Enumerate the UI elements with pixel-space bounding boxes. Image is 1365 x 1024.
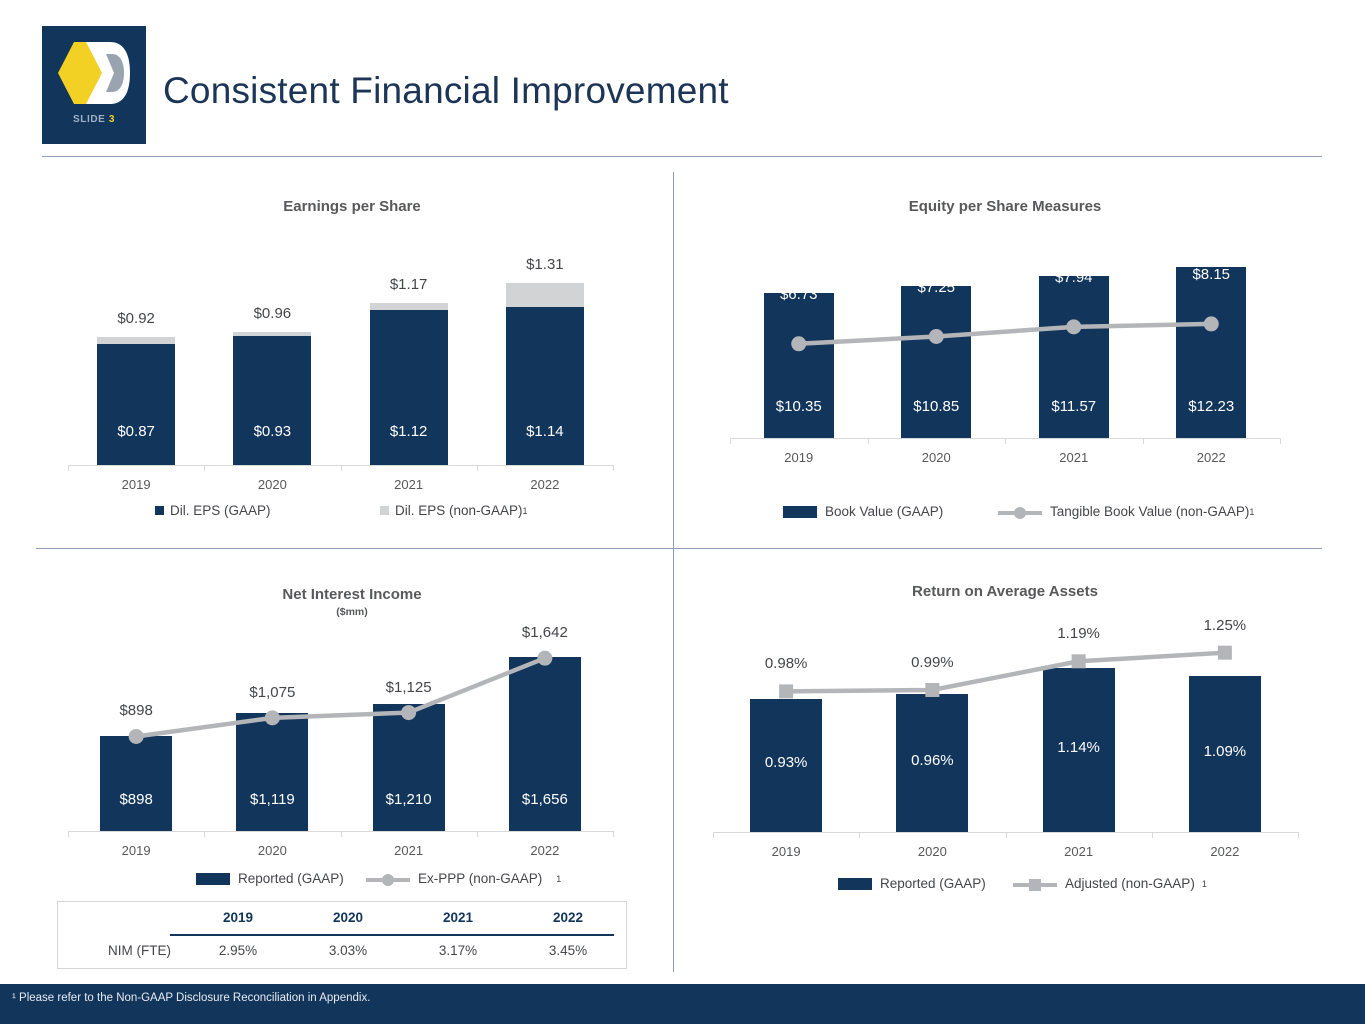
- category-label: 2021: [1029, 844, 1129, 859]
- line-value-label: 0.98%: [731, 655, 841, 672]
- table-cell: 3.03%: [293, 934, 403, 967]
- line-value-label: $1,075: [217, 684, 327, 701]
- line-value-label: $7.25: [881, 279, 991, 296]
- legend-item-book-value-gaap[interactable]: Book Value (GAAP): [783, 504, 998, 519]
- chart-title-equity: Equity per Share Measures: [690, 198, 1320, 215]
- bar-value-label: 0.96%: [890, 752, 974, 769]
- category-label: 2022: [495, 477, 595, 492]
- legend-item-ex-ppp-non-gaap[interactable]: Ex-PPP (non-GAAP) 1: [366, 871, 561, 886]
- line-value-label: $898: [81, 702, 191, 719]
- legend-label: Book Value (GAAP): [825, 504, 943, 519]
- chart-legend-roaa: Reported (GAAP) Adjusted (non-GAAP) 1: [838, 876, 1207, 891]
- axis-tick: [1280, 438, 1281, 444]
- line-square-gray-icon: [1013, 878, 1057, 890]
- legend-label: Dil. EPS (non-GAAP): [395, 503, 523, 518]
- legend-item-reported-gaap[interactable]: Reported (GAAP): [196, 871, 366, 886]
- line-circle-gray-icon: [366, 873, 410, 885]
- legend-label: Reported (GAAP): [238, 871, 344, 886]
- page-title: Consistent Financial Improvement: [163, 70, 729, 112]
- bar-value-label: $898: [94, 791, 178, 808]
- rect-navy-icon: [838, 878, 872, 890]
- legend-label: Dil. EPS (GAAP): [170, 503, 271, 518]
- category-label: 2019: [86, 477, 186, 492]
- category-label: 2021: [359, 477, 459, 492]
- chart-legend-equity: Book Value (GAAP) Tangible Book Value (n…: [783, 504, 1254, 519]
- category-label: 2021: [359, 843, 459, 858]
- line-marker: [537, 651, 552, 666]
- bar-value-label: $10.85: [895, 398, 977, 415]
- rect-navy-icon: [196, 873, 230, 885]
- category-label: 2022: [495, 843, 595, 858]
- table-header-cell: 2020: [293, 902, 403, 934]
- legend-label: Reported (GAAP): [880, 876, 986, 891]
- chart-title-eps: Earnings per Share: [42, 198, 662, 215]
- bar-segment-gaap: [97, 344, 175, 465]
- chart-subtitle-nii: ($mm): [42, 606, 662, 618]
- legend-footnote-marker: 1: [556, 874, 561, 884]
- trend-line: [713, 622, 1298, 834]
- bar-value-label: $10.35: [758, 398, 840, 415]
- legend-item-dil-eps-gaap[interactable]: Dil. EPS (GAAP): [155, 503, 380, 518]
- legend-item-reported-gaap[interactable]: Reported (GAAP): [838, 876, 1013, 891]
- chart-title-roaa: Return on Average Assets: [690, 583, 1320, 600]
- bar-total-label: $0.92: [77, 310, 195, 327]
- chart-legend-nii: Reported (GAAP) Ex-PPP (non-GAAP) 1: [196, 871, 561, 886]
- category-label: 2020: [886, 450, 986, 465]
- table-row: NIM (FTE) 2.95% 3.03% 3.17% 3.45%: [58, 934, 626, 967]
- table-header-row: 2019 2020 2021 2022: [58, 902, 626, 934]
- bar-value-label: $1,656: [503, 791, 587, 808]
- legend-footnote-marker: 1: [1202, 879, 1207, 889]
- bar-segment-gaap: [233, 336, 311, 465]
- axis-tick: [204, 465, 205, 471]
- table-header-cell: 2019: [183, 902, 293, 934]
- line-marker: [1072, 654, 1086, 668]
- bar-segment-non-gaap: [506, 283, 584, 307]
- table-header-corner: [58, 902, 183, 934]
- table-row-label: NIM (FTE): [58, 934, 183, 967]
- legend-label: Tangible Book Value (non-GAAP): [1050, 504, 1249, 519]
- bar-segment-non-gaap: [97, 337, 175, 344]
- bar-segment-non-gaap: [370, 303, 448, 310]
- line-marker: [791, 336, 806, 351]
- chart-plot-equity: $10.35$6.73$10.85$7.25$11.57$7.94$12.23$…: [730, 240, 1280, 440]
- table-header-cell: 2021: [403, 902, 513, 934]
- square-gray-icon: [380, 506, 389, 515]
- bar-total-label: $1.17: [350, 276, 468, 293]
- category-label: 2021: [1024, 450, 1124, 465]
- chart-plot-roaa: 0.93%0.98%0.96%0.99%1.14%1.19%1.09%1.25%…: [713, 622, 1298, 834]
- bar-value-label: $12.23: [1170, 398, 1252, 415]
- chart-title-nii: Net Interest Income: [42, 586, 662, 603]
- footnote-text: ¹ Please refer to the Non-GAAP Disclosur…: [12, 992, 370, 1004]
- axis-tick: [341, 465, 342, 471]
- company-d-logo-icon: [56, 40, 132, 106]
- table-cell: 3.17%: [403, 934, 513, 967]
- bar-value-label: $0.93: [233, 423, 311, 440]
- line-value-label: $8.15: [1156, 266, 1266, 283]
- bar-value-label: 0.93%: [744, 754, 828, 771]
- category-label: 2020: [222, 843, 322, 858]
- line-value-label: 1.25%: [1170, 617, 1280, 634]
- table-header-underline: [170, 934, 614, 936]
- category-label: 2019: [86, 843, 186, 858]
- chart-plot-eps: $0.87$0.92$0.93$0.96$1.12$1.17$1.14$1.31…: [68, 240, 613, 468]
- legend-label: Adjusted (non-GAAP): [1065, 876, 1195, 891]
- company-logo: SLIDE 3: [42, 26, 146, 144]
- legend-footnote-marker: 1: [1249, 507, 1254, 517]
- axis-tick: [1298, 832, 1299, 838]
- chart-plot-nii: $898$898$1,119$1,075$1,210$1,125$1,656$1…: [68, 628, 613, 833]
- category-label: 2022: [1175, 844, 1275, 859]
- bar-value-label: 1.14%: [1037, 739, 1121, 756]
- legend-item-dil-eps-non-gaap[interactable]: Dil. EPS (non-GAAP) 1: [380, 503, 528, 518]
- nim-table: 2019 2020 2021 2022 NIM (FTE) 2.95% 3.03…: [57, 901, 627, 969]
- vertical-divider: [673, 172, 674, 972]
- horizontal-divider: [36, 548, 1322, 549]
- line-value-label: $7.94: [1019, 269, 1129, 286]
- logo-slide-caption: SLIDE 3: [42, 114, 146, 125]
- axis-tick: [68, 465, 69, 471]
- logo-slide-word: SLIDE: [73, 114, 105, 125]
- table-cell: 2.95%: [183, 934, 293, 967]
- line-marker: [1204, 316, 1219, 331]
- header-divider: [42, 156, 1322, 157]
- chart-panel-equity: Equity per Share Measures: [690, 198, 1320, 215]
- bar-total-label: $0.96: [213, 305, 331, 322]
- category-label: 2020: [222, 477, 322, 492]
- legend-footnote-marker: 1: [523, 506, 528, 516]
- bar-value-label: $1.12: [370, 423, 448, 440]
- chart-panel-nii: Net Interest Income ($mm): [42, 586, 662, 618]
- slide-footer: ¹ Please refer to the Non-GAAP Disclosur…: [0, 984, 1365, 1024]
- square-navy-icon: [155, 506, 164, 515]
- line-marker: [929, 329, 944, 344]
- line-value-label: $1,642: [490, 624, 600, 641]
- line-marker: [129, 729, 144, 744]
- line-marker: [779, 684, 793, 698]
- chart-panel-eps: Earnings per Share: [42, 198, 662, 215]
- bar-value-label: 1.09%: [1183, 743, 1267, 760]
- line-marker: [925, 683, 939, 697]
- slide-header: SLIDE 3 Consistent Financial Improvement: [0, 0, 1365, 160]
- bar-value-label: $1,210: [367, 791, 451, 808]
- bar-total-label: $1.31: [486, 256, 604, 273]
- legend-label: Ex-PPP (non-GAAP): [418, 871, 542, 886]
- bar-value-label: $1.14: [506, 423, 584, 440]
- bar-value-label: $0.87: [97, 423, 175, 440]
- line-value-label: 1.19%: [1024, 625, 1134, 642]
- table-header-cell: 2022: [513, 902, 623, 934]
- axis-tick: [613, 465, 614, 471]
- category-label: 2019: [749, 450, 849, 465]
- line-value-label: $6.73: [744, 286, 854, 303]
- bar-value-label: $11.57: [1033, 398, 1115, 415]
- table-cell: 3.45%: [513, 934, 623, 967]
- legend-item-adjusted-non-gaap[interactable]: Adjusted (non-GAAP) 1: [1013, 876, 1207, 891]
- bar-segment-gaap: [506, 307, 584, 465]
- line-marker: [1218, 646, 1232, 660]
- line-marker: [1066, 319, 1081, 334]
- line-value-label: $1,125: [354, 679, 464, 696]
- logo-slide-number: 3: [109, 114, 115, 125]
- line-circle-gray-icon: [998, 506, 1042, 518]
- bar-segment-gaap: [370, 310, 448, 465]
- rect-navy-icon: [783, 506, 817, 518]
- bar-value-label: $1,119: [230, 791, 314, 808]
- category-label: 2020: [882, 844, 982, 859]
- chart-panel-roaa: Return on Average Assets: [690, 583, 1320, 600]
- axis-tick: [613, 831, 614, 837]
- line-value-label: 0.99%: [877, 654, 987, 671]
- category-label: 2019: [736, 844, 836, 859]
- chart-legend-eps: Dil. EPS (GAAP) Dil. EPS (non-GAAP) 1: [155, 503, 528, 518]
- axis-tick: [477, 465, 478, 471]
- category-label: 2022: [1161, 450, 1261, 465]
- line-marker: [265, 710, 280, 725]
- line-marker: [401, 705, 416, 720]
- legend-item-tangible-book-value-non-gaap[interactable]: Tangible Book Value (non-GAAP) 1: [998, 504, 1254, 519]
